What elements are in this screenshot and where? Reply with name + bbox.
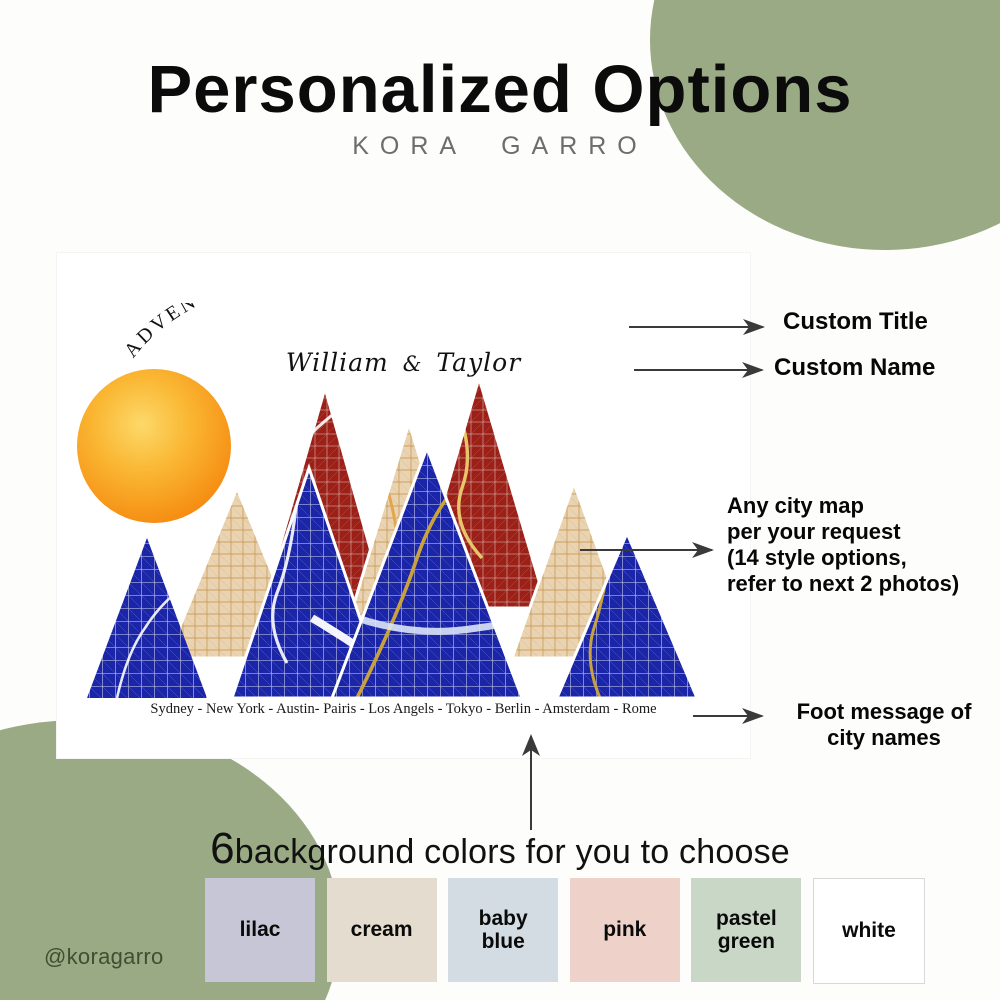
swatch-label-line2: green (718, 930, 775, 953)
sun-icon (77, 369, 231, 523)
background-color-swatches: lilac cream babyblue pink pastelgreen wh… (205, 878, 925, 982)
poster-foot-city-names: Sydney - New York - Austin- Pairis - Los… (57, 701, 750, 718)
brand-subtitle: KORAGARRO (0, 132, 1000, 161)
swatch-label: pink (603, 918, 646, 941)
annotation-city-map: Any city map per your request (14 style … (727, 493, 959, 597)
background-colors-text: background colors for you to choose (235, 833, 790, 871)
swatch-label-line2: blue (482, 930, 525, 953)
annotation-custom-title: Custom Title (783, 308, 928, 336)
annotation-foot-message: Foot message of city names (768, 699, 1000, 751)
page-title: Personalized Options (0, 56, 1000, 123)
annotation-foot-line-1: Foot message of (768, 699, 1000, 725)
annotation-city-map-line-3: (14 style options, (727, 545, 959, 571)
swatch-cream[interactable]: cream (327, 878, 437, 982)
poster-infographic: Personalized Options KORAGARRO ADVENTRUR… (0, 0, 1000, 1000)
swatch-pastel-green[interactable]: pastelgreen (691, 878, 801, 982)
swatch-baby-blue[interactable]: babyblue (448, 878, 558, 982)
background-colors-count: 6 (210, 824, 235, 873)
brand-word-1: KORA (352, 132, 467, 160)
swatch-pink[interactable]: pink (570, 878, 680, 982)
swatch-white[interactable]: white (813, 878, 925, 984)
brand-word-2: GARRO (501, 132, 648, 160)
swatch-label: white (842, 919, 896, 942)
poster-artwork (57, 368, 750, 698)
swatch-label: baby (479, 907, 528, 930)
watermark-handle: @koragarro (44, 944, 164, 970)
swatch-label: lilac (240, 918, 281, 941)
annotation-custom-name: Custom Name (774, 354, 935, 382)
annotation-city-map-line-1: Any city map (727, 493, 959, 519)
annotation-foot-line-2: city names (768, 725, 1000, 751)
swatch-lilac[interactable]: lilac (205, 878, 315, 982)
swatch-label: pastel (716, 907, 777, 930)
annotation-city-map-line-4: refer to next 2 photos) (727, 571, 959, 597)
swatch-label: cream (351, 918, 413, 941)
annotation-city-map-line-2: per your request (727, 519, 959, 545)
poster-preview-card[interactable]: ADVENTRURE TOGETHER SINCE 2018 William&T… (57, 253, 750, 758)
background-colors-heading: 6background colors for you to choose (0, 824, 1000, 874)
